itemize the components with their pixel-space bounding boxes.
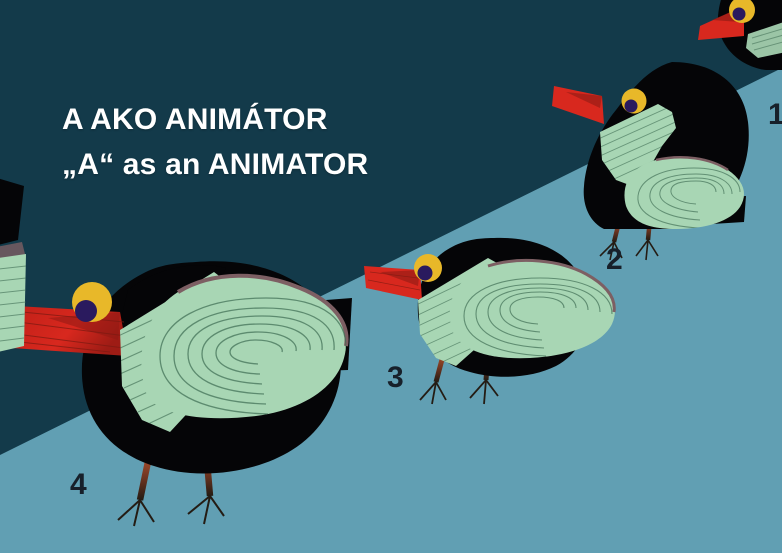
eye-pupil-4 <box>75 300 97 322</box>
eye-pupil-0 <box>733 8 746 21</box>
poster-canvas: A AKO ANIMÁTOR „A“ as an ANIMATOR 1 2 3 … <box>0 0 782 553</box>
illustration-artwork <box>0 0 782 553</box>
eye-pupil-2 <box>625 100 638 113</box>
numeral-1: 1 <box>768 100 782 130</box>
bird-group-5-partial <box>0 170 26 356</box>
numeral-3: 3 <box>387 363 404 393</box>
eye-pupil-3 <box>418 266 433 281</box>
numeral-4: 4 <box>70 470 87 500</box>
numeral-2: 2 <box>606 245 623 275</box>
